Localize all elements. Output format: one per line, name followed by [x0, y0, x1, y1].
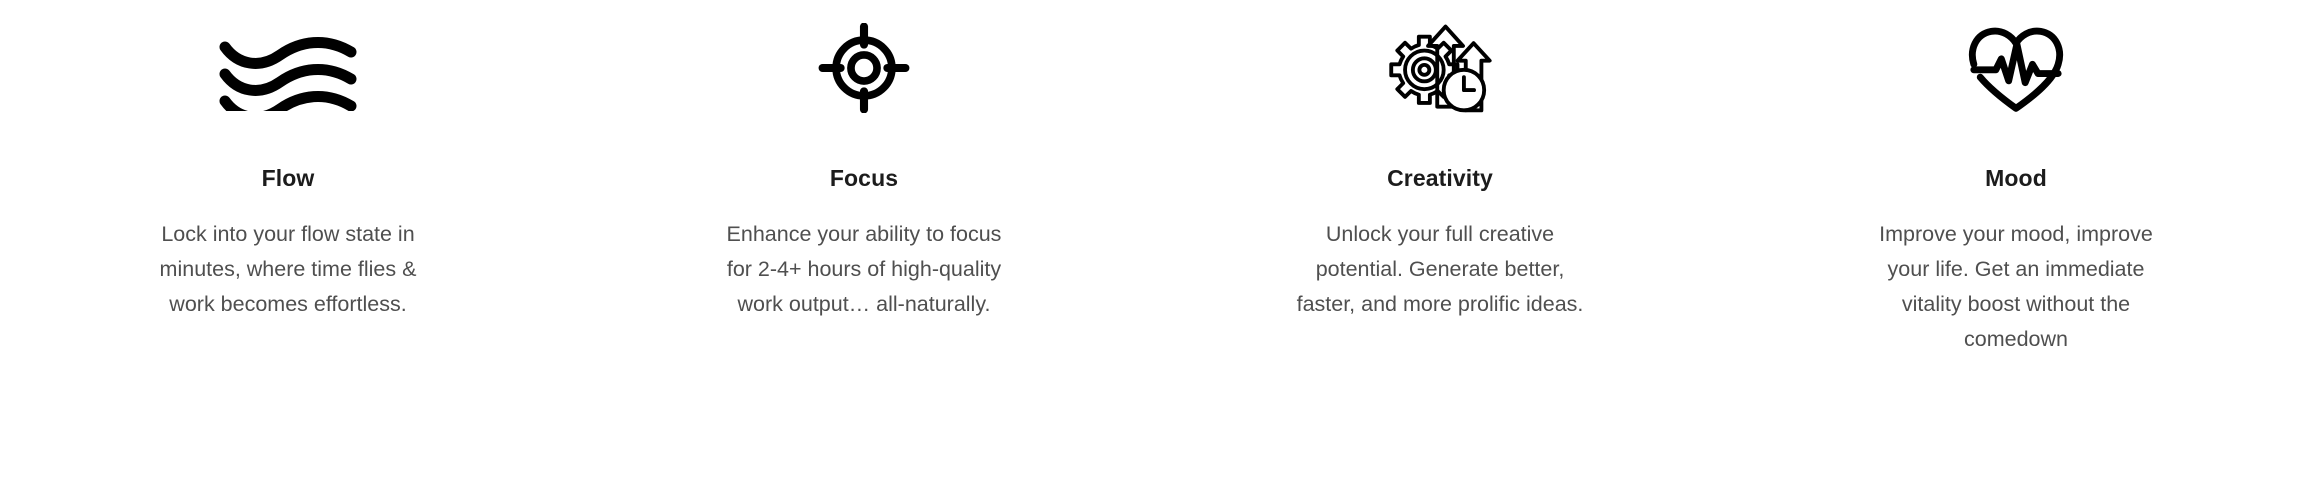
heart-pulse-icon — [1957, 22, 2075, 114]
feature-description: Lock into your flow state in minutes, wh… — [138, 217, 438, 322]
gear-clock-arrows-icon — [1380, 22, 1500, 114]
feature-card-flow: Flow Lock into your flow state in minute… — [0, 0, 576, 322]
feature-card-creativity: Creativity Unlock your full creative pot… — [1152, 0, 1728, 322]
feature-list: Flow Lock into your flow state in minute… — [0, 0, 2304, 482]
feature-title: Flow — [262, 166, 315, 191]
feature-description: Improve your mood, improve your life. Ge… — [1862, 217, 2170, 357]
feature-title: Creativity — [1387, 166, 1493, 191]
feature-description: Unlock your full creative potential. Gen… — [1288, 217, 1593, 322]
waves-icon — [218, 22, 358, 114]
feature-title: Focus — [830, 166, 898, 191]
feature-title: Mood — [1985, 166, 2047, 191]
target-crosshair-icon — [805, 22, 923, 114]
feature-card-mood: Mood Improve your mood, improve your lif… — [1728, 0, 2304, 357]
feature-description: Enhance your ability to focus for 2-4+ h… — [714, 217, 1014, 322]
feature-card-focus: Focus Enhance your ability to focus for … — [576, 0, 1152, 322]
